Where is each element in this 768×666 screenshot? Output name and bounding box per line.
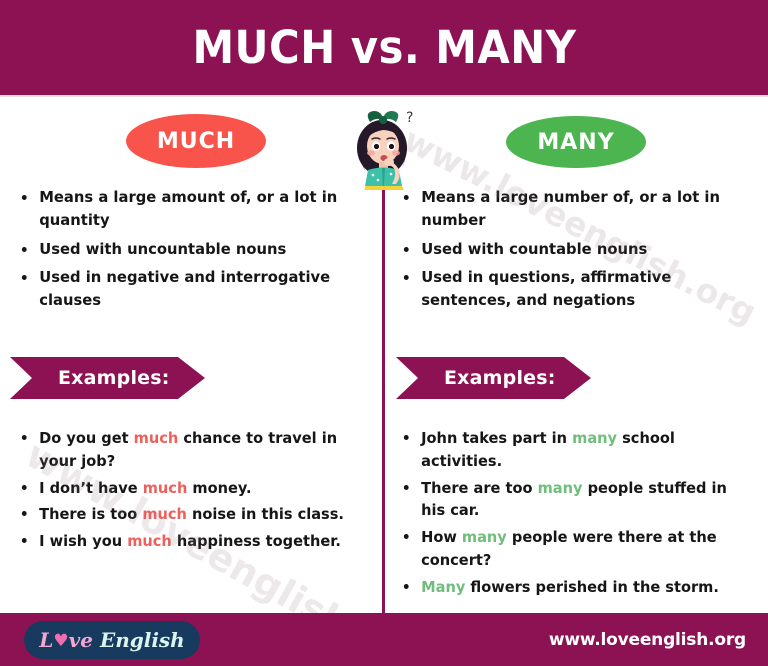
examples-banner-many: Examples: (396, 357, 591, 399)
list-item: I wish you much happiness together. (18, 530, 356, 553)
logo-letter-l: L (39, 628, 53, 652)
list-item: There is too much noise in this class. (18, 503, 356, 526)
examples-banner-many-label: Examples: (444, 367, 556, 389)
svg-text:?: ? (406, 110, 413, 126)
column-divider (382, 168, 385, 613)
highlighted-keyword: many (538, 479, 583, 497)
highlighted-keyword: many (462, 528, 507, 546)
many-examples-list: John takes part in many school activitie… (400, 427, 762, 599)
list-item: John takes part in many school activitie… (400, 427, 748, 473)
highlighted-keyword: much (134, 429, 179, 447)
footer-bar: L♥veEnglish www.loveenglish.org (0, 613, 768, 666)
pill-much-label: MUCH (157, 129, 235, 154)
love-english-logo[interactable]: L♥veEnglish (24, 621, 200, 659)
examples-banner-much: Examples: (10, 357, 205, 399)
list-item: Used with countable nouns (400, 238, 747, 261)
column-many: Means a large number of, or a lot in num… (400, 186, 760, 317)
highlighted-keyword: Many (421, 578, 465, 596)
page-title: MUCH vs. MANY (192, 21, 576, 74)
logo-text: L♥veEnglish (39, 628, 184, 652)
list-item: There are too many people stuffed in his… (400, 477, 748, 523)
examples-much: Do you get much chance to travel in your… (18, 427, 370, 557)
list-item: Means a large number of, or a lot in num… (400, 186, 747, 233)
list-item: Used in negative and interrogative claus… (18, 266, 358, 313)
pill-much: MUCH (126, 114, 266, 168)
list-item: How many people were there at the concer… (400, 526, 748, 572)
examples-many: John takes part in many school activitie… (400, 427, 762, 603)
list-item: I don’t have much money. (18, 477, 356, 500)
column-much: Means a large amount of, or a lot in qua… (18, 186, 370, 317)
highlighted-keyword: much (127, 532, 172, 550)
highlighted-keyword: much (143, 479, 188, 497)
heart-icon: ♥ (53, 631, 68, 651)
list-item: Do you get much chance to travel in your… (18, 427, 356, 473)
footer-url[interactable]: www.loveenglish.org (549, 613, 746, 666)
list-item: Used with uncountable nouns (18, 238, 358, 261)
highlighted-keyword: many (572, 429, 617, 447)
list-item: Used in questions, affirmative sentences… (400, 266, 747, 313)
highlighted-keyword: much (142, 505, 187, 523)
pill-many: MANY (506, 116, 646, 168)
logo-letters-ve: ve (69, 628, 93, 652)
much-examples-list: Do you get much chance to travel in your… (18, 427, 370, 553)
pill-many-label: MANY (537, 130, 614, 155)
thinking-girl-icon: ? (344, 104, 428, 190)
many-points-list: Means a large number of, or a lot in num… (400, 186, 760, 312)
header-underline (0, 95, 768, 97)
header-bar: MUCH vs. MANY (0, 0, 768, 95)
infographic-root: MUCH vs. MANY www.loveenglish.org www.lo… (0, 0, 768, 666)
examples-banner-much-label: Examples: (58, 367, 170, 389)
list-item: Many flowers perished in the storm. (400, 576, 748, 599)
much-points-list: Means a large amount of, or a lot in qua… (18, 186, 370, 312)
logo-word-english: English (100, 628, 185, 652)
list-item: Means a large amount of, or a lot in qua… (18, 186, 358, 233)
